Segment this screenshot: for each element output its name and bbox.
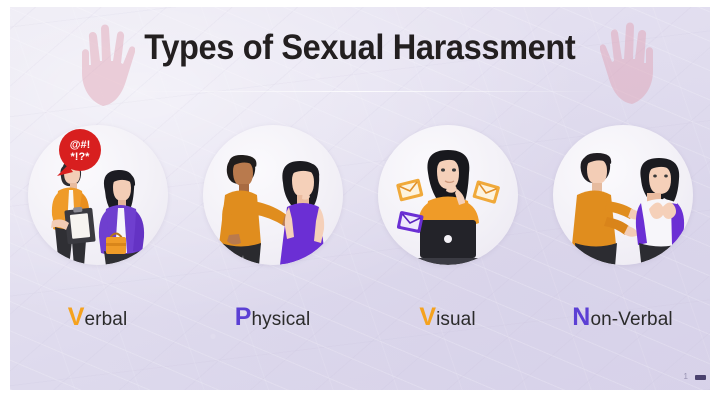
type-label-visual: Visual [419, 303, 475, 332]
slide-viewer: Types of Sexual Harassment [0, 0, 720, 404]
title-container: Types of Sexual Harassment [10, 29, 710, 66]
type-initial: N [572, 303, 590, 331]
page-title: Types of Sexual Harassment [144, 29, 575, 66]
type-initial: V [419, 303, 436, 331]
type-label-physical: Physical [235, 303, 311, 332]
physical-illustration [203, 125, 343, 265]
slide-nav-chip[interactable] [695, 375, 706, 380]
type-initial: P [235, 303, 252, 331]
type-rest: isual [436, 309, 476, 330]
type-card-verbal[interactable]: @#! *!?* Verbal [23, 125, 173, 332]
type-rest: hysical [252, 309, 311, 330]
type-label-non-verbal: Non-Verbal [572, 303, 672, 332]
type-card-non-verbal[interactable]: Non-Verbal [548, 125, 698, 332]
type-label-verbal: Verbal [68, 303, 128, 332]
title-underline-divider [130, 91, 600, 92]
slide-canvas: Types of Sexual Harassment [10, 7, 710, 390]
type-card-physical[interactable]: Physical [198, 125, 348, 332]
visual-illustration [378, 125, 518, 265]
type-rest: on-Verbal [590, 309, 672, 330]
verbal-illustration: @#! *!?* [28, 125, 168, 265]
svg-text:@#!: @#! [69, 139, 90, 151]
type-rest: erbal [85, 309, 128, 330]
page-number: 1 [684, 372, 688, 381]
non-verbal-illustration [553, 125, 693, 265]
svg-text:*!?*: *!?* [70, 151, 90, 163]
type-initial: V [68, 303, 85, 331]
type-card-visual[interactable]: Visual [373, 125, 523, 332]
types-row: @#! *!?* Verbal [10, 125, 710, 365]
